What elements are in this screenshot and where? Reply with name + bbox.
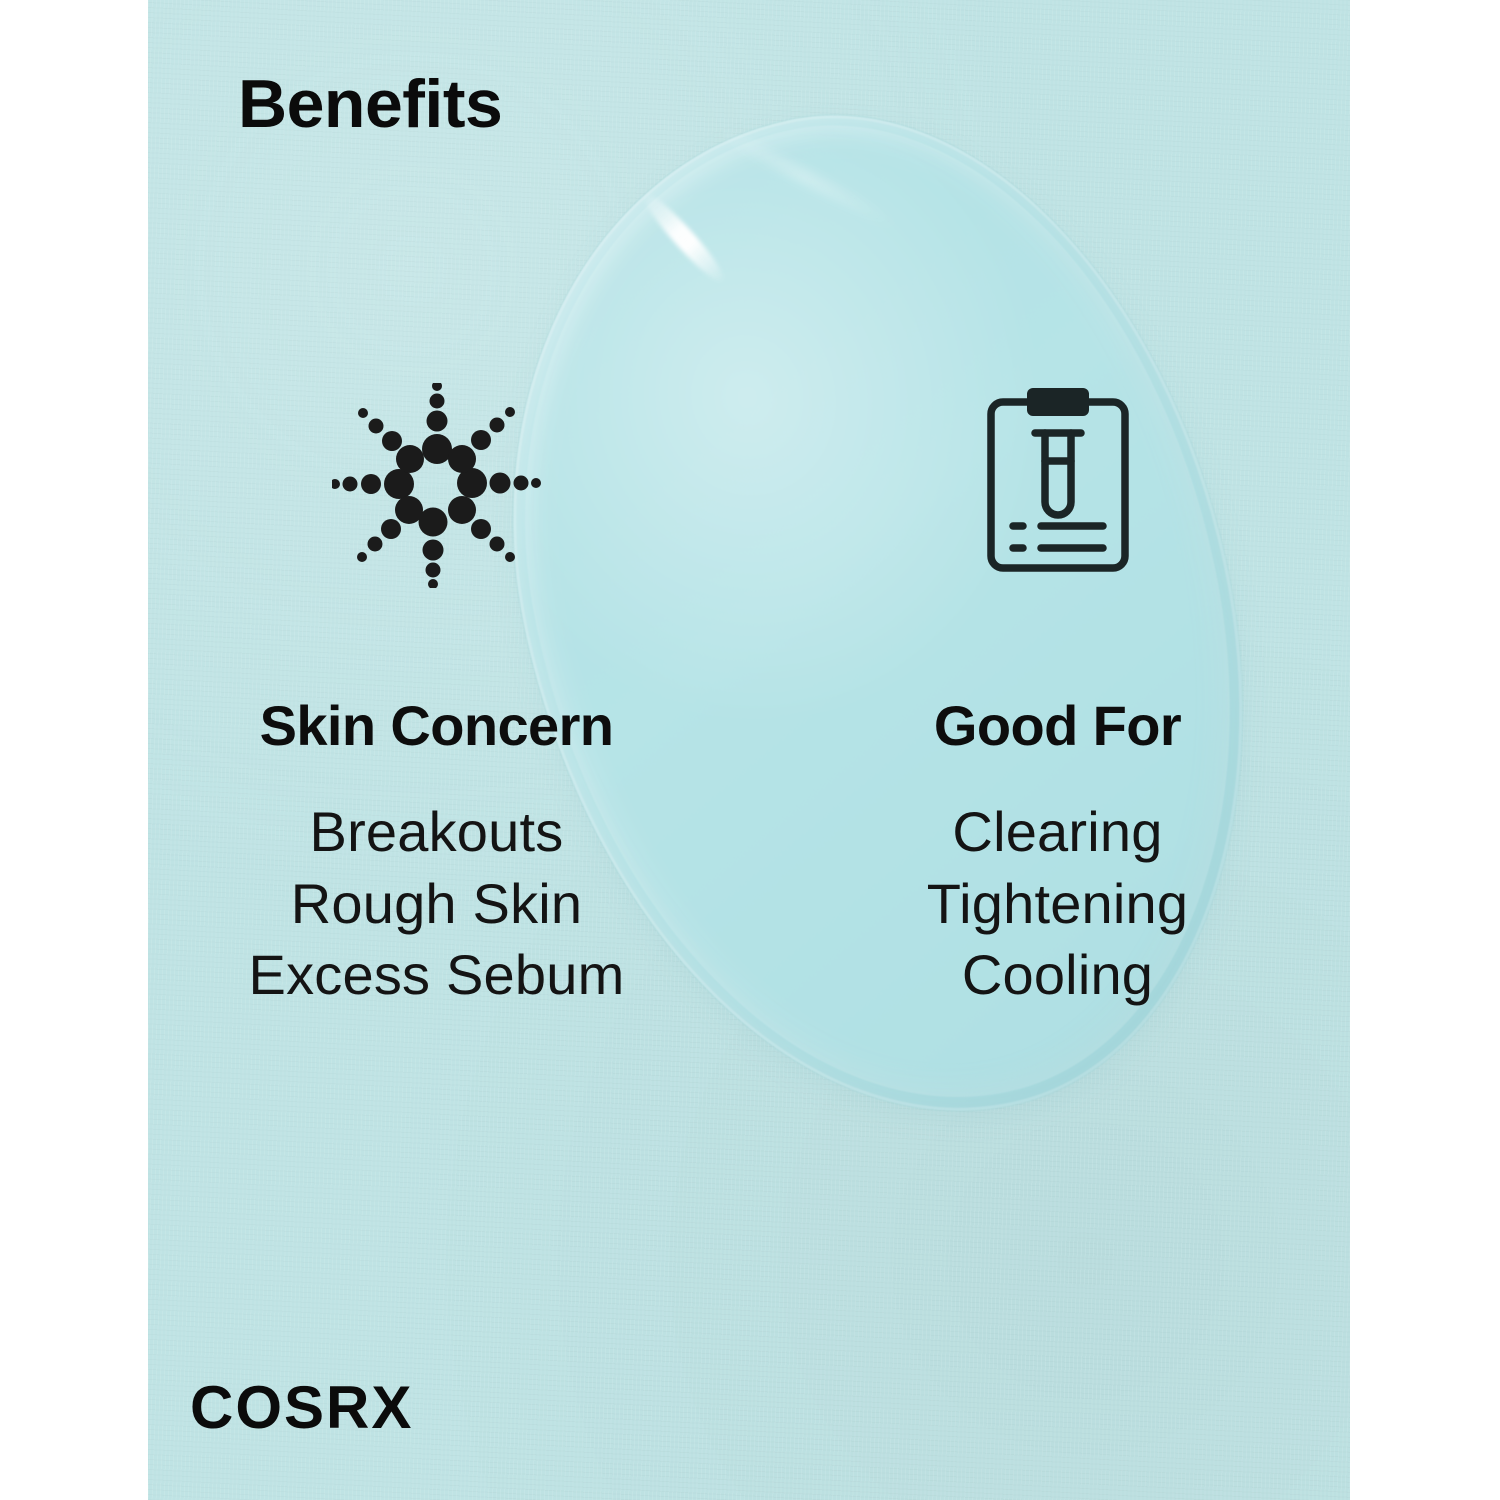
column-title-good-for: Good For — [934, 698, 1181, 754]
benefit-column-skin-concern: Skin Concern Breakouts Rough Skin Excess… — [136, 380, 737, 1011]
benefits-columns: Skin Concern Breakouts Rough Skin Excess… — [148, 380, 1350, 1011]
product-benefits-infographic: Benefits — [0, 0, 1500, 1500]
list-item: Excess Sebum — [249, 939, 625, 1011]
list-item: Tightening — [927, 868, 1188, 940]
page-title: Benefits — [238, 70, 502, 138]
benefit-column-good-for: Good For Clearing Tightening Cooling — [757, 380, 1358, 1011]
starburst-dots-icon — [327, 380, 547, 590]
column-title-skin-concern: Skin Concern — [260, 698, 614, 754]
clipboard-test-tube-icon — [948, 376, 1168, 586]
list-item: Cooling — [927, 939, 1188, 1011]
brand-logo: COSRX — [190, 1378, 413, 1438]
list-item: Rough Skin — [249, 868, 625, 940]
list-item: Breakouts — [249, 796, 625, 868]
list-item: Clearing — [927, 796, 1188, 868]
benefit-list-good-for: Clearing Tightening Cooling — [927, 796, 1188, 1011]
benefit-list-skin-concern: Breakouts Rough Skin Excess Sebum — [249, 796, 625, 1011]
